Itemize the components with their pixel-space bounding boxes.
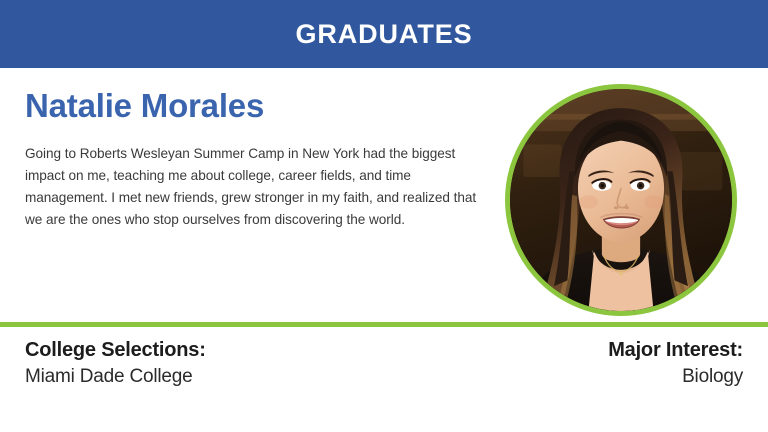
graduate-profile-slide: GRADUATES Natalie Morales Going to Rober… [0,0,768,432]
student-quote: Going to Roberts Wesleyan Summer Camp in… [25,143,485,231]
profile-body: Natalie Morales Going to Roberts Wesleya… [0,68,768,322]
major-interest-value: Biology [608,365,743,390]
student-name: Natalie Morales [25,88,485,125]
major-interest-block: Major Interest: Biology [608,337,743,390]
header-bar: GRADUATES [0,0,768,68]
college-selections-block: College Selections: Miami Dade College [25,337,206,390]
portrait-photo [510,89,732,311]
college-selections-label: College Selections: [25,337,206,363]
college-selections-value: Miami Dade College [25,365,206,390]
major-interest-label: Major Interest: [608,337,743,363]
footer-area: College Selections: Miami Dade College M… [0,327,768,432]
profile-text-column: Natalie Morales Going to Roberts Wesleya… [25,88,485,231]
page-title: GRADUATES [295,21,472,48]
avatar [505,84,737,316]
